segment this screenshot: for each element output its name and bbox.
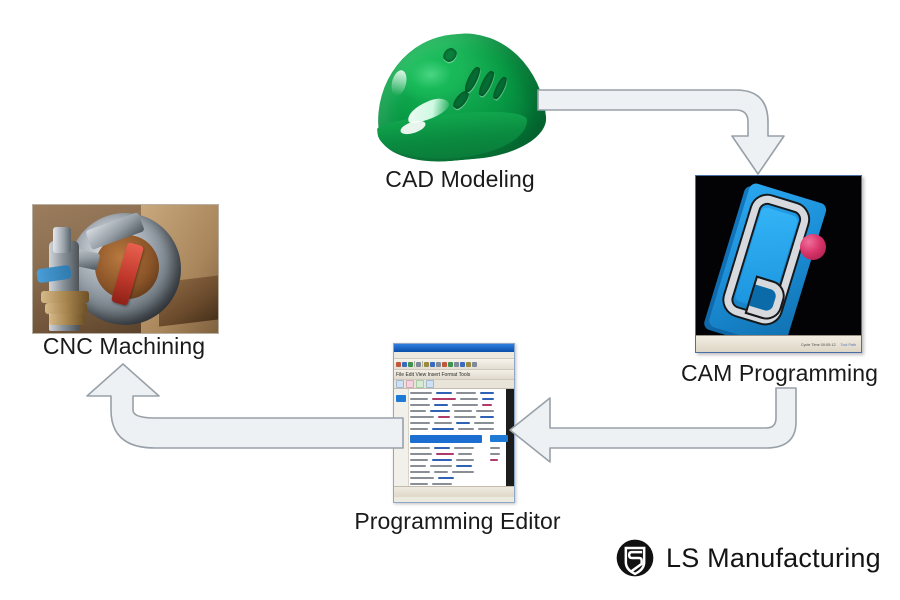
arrow-cad-to-cam (536, 88, 786, 178)
code-line (480, 416, 494, 418)
code-line (456, 465, 472, 467)
editor-tab[interactable] (426, 380, 434, 388)
code-line (434, 447, 450, 449)
code-line (478, 428, 494, 430)
code-line (432, 398, 456, 400)
workflow-diagram: CAD Modeling Cycle Time 00:05:12 Tool Pa… (0, 0, 900, 600)
code-line (410, 398, 428, 400)
cnc-tool-post-top (53, 227, 71, 253)
code-line (456, 392, 476, 394)
cam-viewport (696, 176, 861, 336)
node-cnc-machining (33, 205, 218, 333)
code-line (430, 465, 452, 467)
editor-tab[interactable] (406, 380, 414, 388)
brand-lockup: LS Manufacturing (615, 538, 881, 578)
code-line (434, 422, 452, 424)
editor-toolbar (394, 359, 514, 370)
toolbar-icon (466, 362, 471, 367)
node-programming-editor: File Edit View Insert Format Tools (393, 343, 515, 503)
code-line (410, 471, 430, 473)
code-line (432, 428, 454, 430)
code-line (410, 392, 432, 394)
toolbar-icon (442, 362, 447, 367)
code-line (410, 447, 430, 449)
toolbar-icon (454, 362, 459, 367)
code-line (410, 428, 428, 430)
node-cam-programming: Cycle Time 00:05:12 Tool Path (695, 175, 862, 353)
editor-highlight-box (490, 435, 508, 442)
code-line (434, 404, 448, 406)
editor-selected-line (410, 435, 482, 443)
code-line (432, 483, 452, 485)
code-line (458, 453, 472, 455)
code-line (410, 422, 430, 424)
code-line (456, 459, 474, 461)
cnc-machining-photo (33, 205, 218, 333)
toolbar-icon (430, 362, 435, 367)
code-line (410, 483, 428, 485)
code-line (454, 416, 476, 418)
editor-title-bar (394, 344, 514, 352)
toolbar-separator (414, 361, 415, 367)
code-line (438, 477, 454, 479)
toolbar-separator (422, 361, 423, 367)
code-line (474, 422, 494, 424)
code-line (410, 416, 434, 418)
label-cam-programming: CAM Programming (652, 360, 900, 387)
brand-name: LS Manufacturing (666, 543, 881, 574)
code-line (410, 459, 428, 461)
code-line (476, 410, 494, 412)
code-line (454, 410, 472, 412)
toolbar-icon (436, 362, 441, 367)
editor-tab-row (394, 380, 514, 389)
code-line (456, 422, 470, 424)
code-line (436, 392, 452, 394)
code-line (452, 471, 474, 473)
code-line (458, 428, 474, 430)
code-line (438, 416, 450, 418)
toolbar-icon (472, 362, 477, 367)
code-line (410, 410, 426, 412)
cam-status-text-secondary: Tool Path (841, 342, 857, 347)
code-line (410, 404, 430, 406)
code-line (482, 404, 492, 406)
cam-screenshot: Cycle Time 00:05:12 Tool Path (695, 175, 862, 353)
code-line (454, 447, 474, 449)
toolbar-icon (408, 362, 413, 367)
code-line (490, 459, 498, 461)
editor-tab[interactable] (416, 380, 424, 388)
node-cad-modeling (370, 28, 550, 168)
editor-status-bar (394, 486, 514, 497)
cam-status-bar: Cycle Time 00:05:12 Tool Path (696, 335, 861, 352)
editor-code-area[interactable] (394, 389, 514, 497)
cnc-brass-ring (49, 314, 85, 325)
toolbar-icon (460, 362, 465, 367)
toolbar-icon (448, 362, 453, 367)
editor-toolbar-secondary: File Edit View Insert Format Tools (394, 370, 514, 380)
code-line (434, 471, 448, 473)
editor-menu-bar (394, 352, 514, 359)
code-line (430, 410, 450, 412)
code-line (410, 465, 426, 467)
cam-status-text: Cycle Time 00:05:12 (801, 342, 836, 347)
code-line (490, 447, 500, 449)
editor-screenshot: File Edit View Insert Format Tools (393, 343, 515, 503)
label-cnc-machining: CNC Machining (14, 333, 234, 360)
code-line (452, 404, 478, 406)
toolbar-icon (424, 362, 429, 367)
code-line (482, 398, 494, 400)
cam-tool-ball (800, 234, 826, 260)
code-line (410, 453, 432, 455)
code-line (436, 453, 454, 455)
code-line (490, 453, 500, 455)
code-line (460, 398, 478, 400)
helmet-3d-model-icon (370, 28, 550, 168)
code-line (410, 477, 434, 479)
toolbar-icon (416, 362, 421, 367)
code-line (432, 459, 452, 461)
cnc-brass-ring (45, 303, 87, 314)
cnc-brass-ring (41, 291, 89, 303)
code-line (480, 392, 494, 394)
arrow-editor-to-cnc (85, 362, 405, 452)
label-programming-editor: Programming Editor (330, 508, 585, 535)
arrow-cam-to-editor (508, 386, 798, 464)
ls-shield-logo-icon (615, 538, 655, 578)
